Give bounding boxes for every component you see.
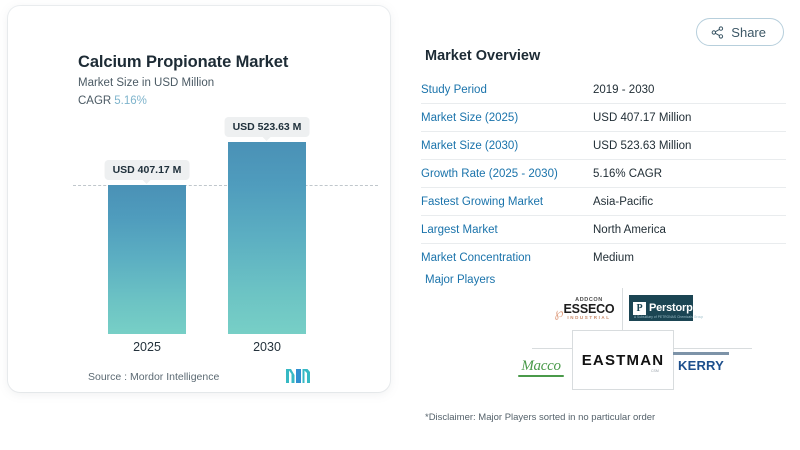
market-overview-table: Study Period 2019 - 2030 Market Size (20… bbox=[421, 76, 786, 271]
share-button-label: Share bbox=[731, 26, 766, 39]
row-value: Asia-Pacific bbox=[593, 196, 653, 208]
kerry-name: KERRY bbox=[673, 358, 729, 373]
row-key: Growth Rate (2025 - 2030) bbox=[421, 168, 593, 180]
table-row: Market Size (2030) USD 523.63 Million bbox=[421, 132, 786, 160]
table-row: Market Size (2025) USD 407.17 Million bbox=[421, 104, 786, 132]
chart-cagr-label: CAGR bbox=[78, 95, 111, 107]
chart-cagr: CAGR5.16% bbox=[78, 95, 147, 107]
x-axis-label-2025: 2025 bbox=[133, 340, 161, 354]
perstorp-p-icon: P bbox=[633, 302, 646, 315]
chart-title: Calcium Propionate Market bbox=[78, 53, 288, 72]
logo-eastman: EASTMAN bbox=[572, 330, 674, 390]
row-value: USD 407.17 Million bbox=[593, 112, 691, 124]
share-button[interactable]: Share bbox=[696, 18, 784, 46]
row-key: Market Size (2030) bbox=[421, 140, 593, 152]
bar-value-label-2030: USD 523.63 M bbox=[225, 117, 310, 137]
esseco-name: ESSECO bbox=[564, 303, 615, 316]
row-value: 2019 - 2030 bbox=[593, 84, 654, 96]
esseco-sub-text: INDUSTRIAL bbox=[564, 316, 615, 321]
row-key: Market Concentration bbox=[421, 252, 593, 264]
kerry-bar-icon bbox=[673, 352, 729, 355]
bar-chart-plot-area: USD 407.17 M 2025 USD 523.63 M 2030 bbox=[68, 116, 388, 356]
kerry-small-text: CSM bbox=[651, 369, 659, 373]
major-players-label: Major Players bbox=[425, 274, 495, 286]
row-key: Fastest Growing Market bbox=[421, 196, 593, 208]
row-value: Medium bbox=[593, 252, 634, 264]
logo-kerry: KERRY CSM bbox=[668, 344, 734, 380]
perstorp-name: Perstorp bbox=[649, 302, 693, 314]
chart-subtitle: Market Size in USD Million bbox=[78, 77, 214, 89]
source-text: Source : Mordor Intelligence bbox=[88, 371, 219, 383]
table-row: Fastest Growing Market Asia-Pacific bbox=[421, 188, 786, 216]
row-value: USD 523.63 Million bbox=[593, 140, 691, 152]
row-key: Study Period bbox=[421, 84, 593, 96]
chart-card: Calcium Propionate Market Market Size in… bbox=[8, 6, 390, 392]
row-key: Largest Market bbox=[421, 224, 593, 236]
major-players-logo-grid: ℘ ADDCON ESSECO INDUSTRIAL P Perstorp A … bbox=[500, 286, 752, 396]
table-row: Largest Market North America bbox=[421, 216, 786, 244]
share-nodes-icon bbox=[711, 26, 724, 39]
macco-underline bbox=[518, 375, 563, 377]
market-overview-title: Market Overview bbox=[425, 48, 540, 64]
row-key: Market Size (2025) bbox=[421, 112, 593, 124]
mordor-intelligence-logo-icon bbox=[285, 368, 311, 384]
bar-2025[interactable] bbox=[108, 185, 186, 334]
perstorp-tagline: A Subsidiary of PETRONAS Chemicals Group bbox=[634, 315, 703, 319]
row-value: 5.16% CAGR bbox=[593, 168, 662, 180]
row-value: North America bbox=[593, 224, 666, 236]
x-axis-label-2030: 2030 bbox=[253, 340, 281, 354]
bar-2030[interactable] bbox=[228, 142, 306, 334]
eastman-name: EASTMAN bbox=[582, 352, 665, 369]
table-row: Study Period 2019 - 2030 bbox=[421, 76, 786, 104]
macco-name: Macco bbox=[521, 358, 560, 375]
table-row: Growth Rate (2025 - 2030) 5.16% CAGR bbox=[421, 160, 786, 188]
logo-perstorp: P Perstorp A Subsidiary of PETRONAS Chem… bbox=[626, 290, 696, 326]
bar-value-label-2025: USD 407.17 M bbox=[105, 160, 190, 180]
logo-esseco: ℘ ADDCON ESSECO INDUSTRIAL bbox=[556, 288, 622, 330]
table-row: Market Concentration Medium bbox=[421, 244, 786, 271]
chart-cagr-value: 5.16% bbox=[114, 95, 147, 107]
logo-macco: Macco bbox=[508, 348, 574, 384]
disclaimer-text: *Disclaimer: Major Players sorted in no … bbox=[425, 412, 655, 423]
esseco-leaf-icon: ℘ bbox=[555, 306, 564, 319]
